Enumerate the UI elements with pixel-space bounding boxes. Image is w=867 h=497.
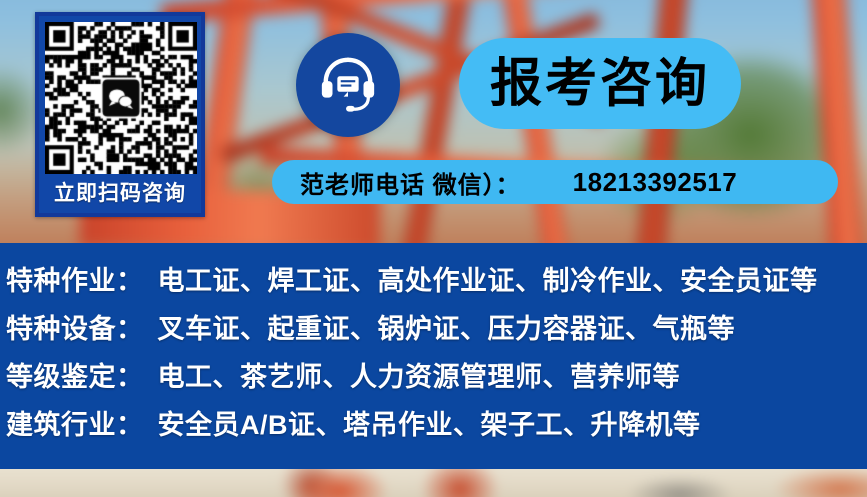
- consult-title-label: 报考咨询: [490, 58, 710, 110]
- row-label: 特种作业：: [6, 259, 144, 298]
- list-row: 特种作业： 电工证、焊工证、高处作业证、制冷作业、安全员证等: [0, 259, 867, 307]
- row-value: 叉车证、起重证、锅炉证、压力容器证、气瓶等: [158, 307, 736, 346]
- list-row: 建筑行业： 安全员A/B证、塔吊作业、架子工、升降机等: [0, 403, 867, 451]
- qr-code-icon: [45, 22, 197, 174]
- list-row: 等级鉴定： 电工、茶艺师、人力资源管理师、营养师等: [0, 355, 867, 403]
- row-value: 电工证、焊工证、高处作业证、制冷作业、安全员证等: [158, 259, 818, 298]
- row-value: 电工、茶艺师、人力资源管理师、营养师等: [158, 355, 681, 394]
- headset-support-icon[interactable]: [296, 33, 400, 137]
- consult-title-pill[interactable]: 报考咨询: [459, 38, 741, 129]
- qr-card-label: 立即扫码咨询: [39, 179, 201, 209]
- phone-label: 范老师电话 微信）：: [300, 165, 521, 200]
- row-label: 等级鉴定：: [6, 355, 144, 394]
- certificate-list-panel: 特种作业： 电工证、焊工证、高处作业证、制冷作业、安全员证等 特种设备： 叉车证…: [0, 243, 867, 469]
- poster-root: 立即扫码咨询 报考咨询 范老师电话 微信）： 1821339: [0, 0, 867, 497]
- phone-contact-pill[interactable]: 范老师电话 微信）： 18213392517: [272, 160, 838, 204]
- bottom-photo-image: [0, 469, 867, 497]
- phone-number: 18213392517: [573, 167, 738, 198]
- row-label: 建筑行业：: [6, 403, 144, 442]
- qr-code-image: [45, 22, 197, 174]
- bottom-photo-strip: [0, 469, 867, 497]
- headset-glyph: [317, 54, 379, 116]
- crane-beam: [808, 0, 866, 243]
- qr-code-card[interactable]: 立即扫码咨询: [35, 12, 205, 217]
- row-value: 安全员A/B证、塔吊作业、架子工、升降机等: [158, 403, 701, 442]
- top-banner: 立即扫码咨询 报考咨询 范老师电话 微信）： 1821339: [0, 0, 867, 243]
- row-label: 特种设备：: [6, 307, 144, 346]
- list-row: 特种设备： 叉车证、起重证、锅炉证、压力容器证、气瓶等: [0, 307, 867, 355]
